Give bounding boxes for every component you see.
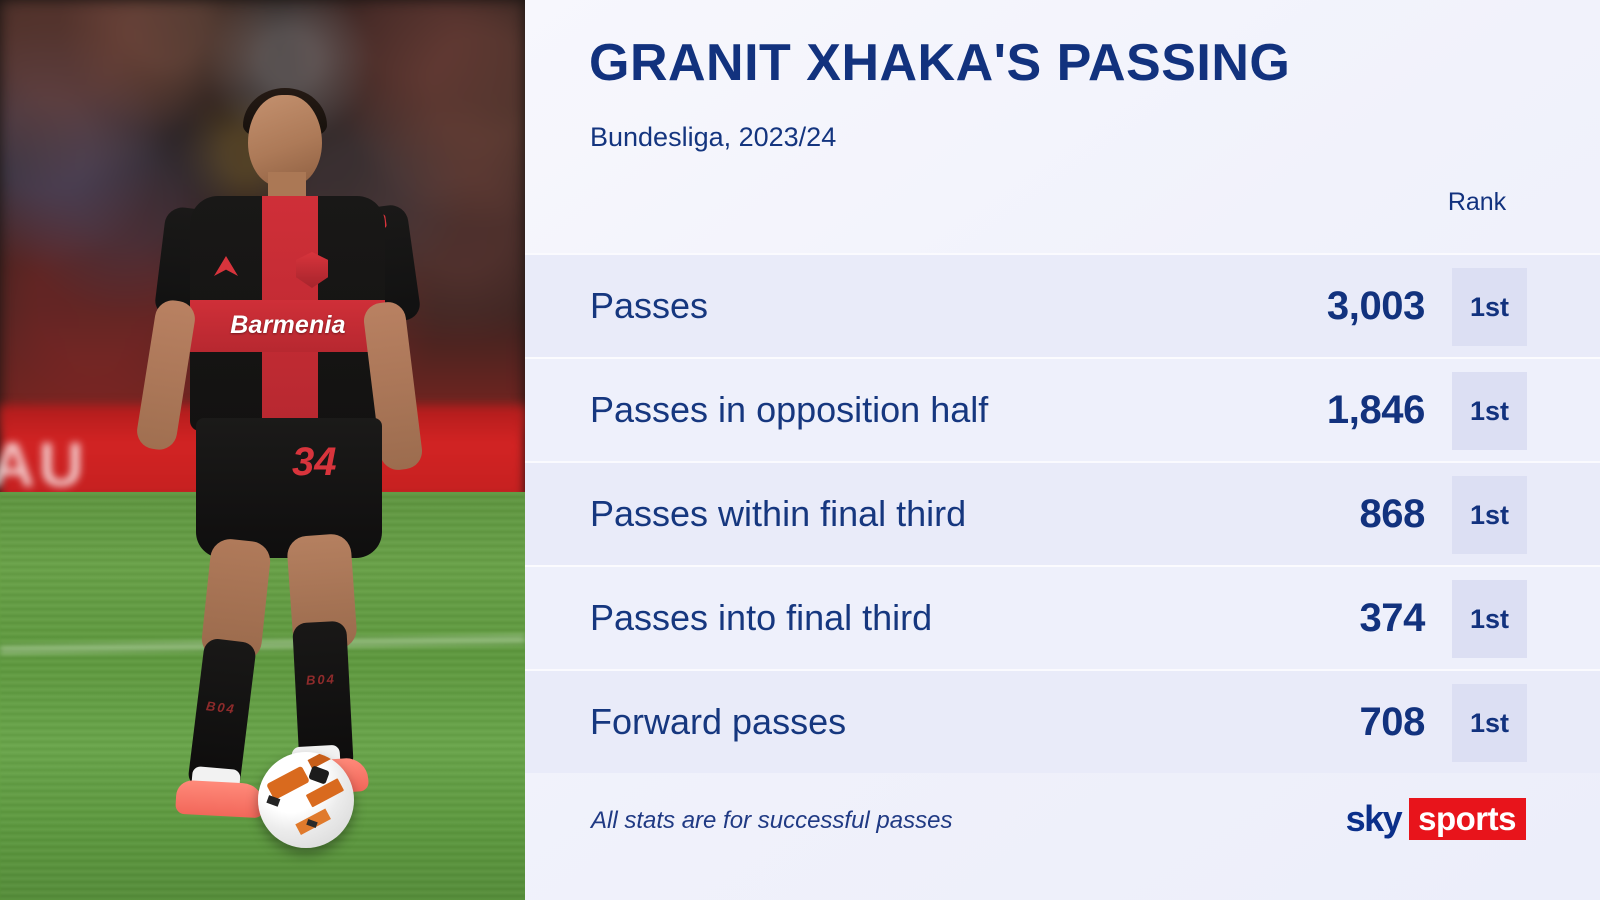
stat-value: 3,003	[1327, 284, 1425, 329]
rank-badge: 1st	[1452, 372, 1527, 450]
rank-badge: 1st	[1452, 268, 1527, 346]
rank-badge: 1st	[1452, 476, 1527, 554]
stat-label: Passes into final third	[590, 597, 932, 639]
table-row: Forward passes 708 1st	[525, 669, 1600, 773]
page-subtitle: Bundesliga, 2023/24	[590, 122, 836, 153]
rank-column-header: Rank	[1427, 188, 1527, 217]
stats-table: Passes 3,003 1st Passes in opposition ha…	[525, 253, 1600, 773]
stat-label: Forward passes	[590, 701, 846, 743]
rank-badge: 1st	[1452, 684, 1527, 762]
sky-sports-stat-graphic: AU Barmenia 34 B04 B04	[0, 0, 1600, 900]
shirt-sponsor-text: Barmenia	[202, 311, 374, 340]
player-boot-left	[175, 780, 265, 819]
stats-panel: GRANIT XHAKA'S PASSING Bundesliga, 2023/…	[525, 0, 1600, 900]
rank-badge: 1st	[1452, 580, 1527, 658]
player-figure: Barmenia 34 B04 B04	[0, 0, 525, 900]
player-shorts	[196, 418, 382, 558]
sock-label-right: B04	[306, 671, 337, 688]
stat-label: Passes within final third	[590, 493, 966, 535]
footnote-text: All stats are for successful passes	[591, 807, 952, 835]
stat-value: 868	[1359, 492, 1425, 537]
rank-value: 1st	[1470, 500, 1509, 531]
page-title: GRANIT XHAKA'S PASSING	[589, 33, 1290, 93]
player-arm-left	[135, 298, 198, 452]
stat-label: Passes	[590, 285, 708, 327]
table-row: Passes in opposition half 1,846 1st	[525, 357, 1600, 461]
stat-value: 1,846	[1327, 388, 1425, 433]
stat-value: 708	[1359, 700, 1425, 745]
rank-value: 1st	[1470, 708, 1509, 739]
table-row: Passes within final third 868 1st	[525, 461, 1600, 565]
stat-value: 374	[1359, 596, 1425, 641]
shorts-number: 34	[292, 440, 337, 485]
player-photo: AU Barmenia 34 B04 B04	[0, 0, 525, 900]
rank-value: 1st	[1470, 604, 1509, 635]
logo-sky-text: sky	[1346, 798, 1410, 840]
logo-sports-text: sports	[1409, 798, 1526, 840]
rank-value: 1st	[1470, 292, 1509, 323]
rank-value: 1st	[1470, 396, 1509, 427]
table-row: Passes 3,003 1st	[525, 253, 1600, 357]
table-row: Passes into final third 374 1st	[525, 565, 1600, 669]
sky-sports-logo: sky sports	[1346, 798, 1526, 840]
football-icon	[258, 752, 354, 848]
stat-label: Passes in opposition half	[590, 389, 988, 431]
